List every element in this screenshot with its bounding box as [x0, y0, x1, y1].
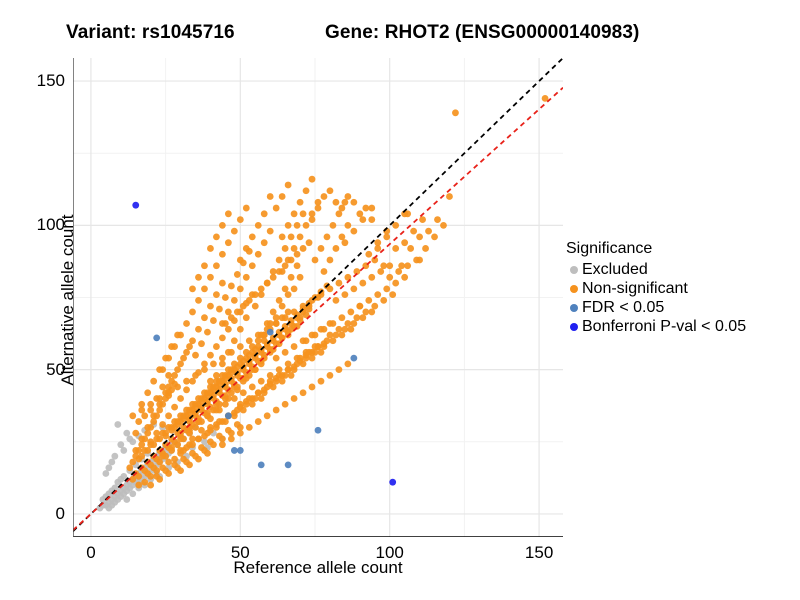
legend-label-bonferroni: Bonferroni P-val < 0.05 — [582, 317, 746, 336]
scatter-plot-figure: Variant: rs1045716 Gene: RHOT2 (ENSG0000… — [0, 0, 800, 600]
legend-swatch-excluded-icon — [566, 260, 582, 279]
x-tick-label: 100 — [376, 543, 404, 563]
plot-panel — [73, 58, 563, 537]
legend-item-bonferroni[interactable]: Bonferroni P-val < 0.05 — [566, 317, 798, 336]
legend-title: Significance — [566, 240, 798, 258]
plot-canvas — [73, 58, 563, 537]
legend: Significance ExcludedNon-significantFDR … — [566, 240, 798, 336]
variant-title: Variant: rs1045716 — [66, 22, 235, 44]
legend-label-non-significant: Non-significant — [582, 279, 688, 298]
y-tick-label: 100 — [21, 215, 65, 235]
x-tick-label: 150 — [525, 543, 553, 563]
x-axis-title: Reference allele count — [73, 558, 563, 578]
legend-item-excluded[interactable]: Excluded — [566, 260, 798, 279]
figure-title-row: Variant: rs1045716 Gene: RHOT2 (ENSG0000… — [0, 22, 800, 48]
y-tick-label: 0 — [21, 504, 65, 524]
legend-items: ExcludedNon-significantFDR < 0.05Bonferr… — [566, 260, 798, 336]
legend-swatch-fdr-icon — [566, 298, 582, 317]
x-tick-label: 0 — [86, 543, 95, 563]
legend-swatch-bonferroni-icon — [566, 317, 582, 336]
gene-title: Gene: RHOT2 (ENSG00000140983) — [325, 22, 639, 44]
legend-item-non-significant[interactable]: Non-significant — [566, 279, 798, 298]
x-tick-label: 50 — [231, 543, 250, 563]
legend-label-excluded: Excluded — [582, 260, 648, 279]
y-tick-label: 50 — [21, 360, 65, 380]
y-tick-label: 150 — [21, 71, 65, 91]
legend-item-fdr[interactable]: FDR < 0.05 — [566, 298, 798, 317]
legend-label-fdr: FDR < 0.05 — [582, 298, 664, 317]
legend-swatch-non-significant-icon — [566, 279, 582, 298]
